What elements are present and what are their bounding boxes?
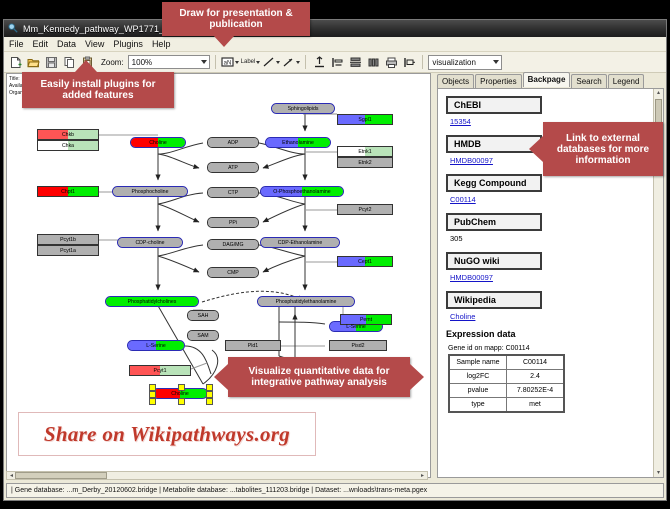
selection-handle[interactable] <box>149 398 156 405</box>
node-label: CTP <box>228 190 238 196</box>
open-folder-icon[interactable] <box>25 54 41 70</box>
order-icon[interactable] <box>401 54 417 70</box>
node-label: Phosphatidylcholines <box>128 299 177 305</box>
gene-node[interactable]: Chka <box>37 140 99 151</box>
metabolite-node[interactable]: CDP-Ethanolamine <box>260 237 340 248</box>
save-icon[interactable] <box>43 54 59 70</box>
gene-id-line: Gene id on mapp: C00114 <box>448 345 663 352</box>
toolbar-separator <box>305 55 306 69</box>
print-icon[interactable] <box>383 54 399 70</box>
gene-node[interactable]: Etnk2 <box>337 157 393 168</box>
label-tool-text: Label <box>241 59 256 65</box>
tab-objects[interactable]: Objects <box>437 74 474 88</box>
db-header-nugo: NuGO wiki <box>446 252 542 270</box>
db-value-pubchem: 305 <box>450 234 663 243</box>
toolbar-separator <box>422 55 423 69</box>
gene-node[interactable]: Cept1 <box>337 256 393 267</box>
db-link-kegg[interactable]: C00114 <box>450 195 663 204</box>
expression-key: Sample name <box>449 355 507 370</box>
node-label: Pemt <box>360 317 372 323</box>
metabolite-node[interactable]: Phosphatidylethanolamine <box>257 296 355 307</box>
align-left-icon[interactable] <box>329 54 345 70</box>
db-header-chebi: ChEBI <box>446 96 542 114</box>
scroll-down-icon[interactable]: ▾ <box>654 469 663 477</box>
callout-share: Share on Wikipathways.org <box>18 412 316 456</box>
callout-plugins: Easily install plugins for added feature… <box>22 72 174 108</box>
cofactor-node[interactable]: ATP <box>207 162 259 173</box>
stack-icon[interactable] <box>347 54 363 70</box>
node-label: Chka <box>62 143 74 149</box>
status-bar: | Gene database: ...m_Derby_20120602.bri… <box>4 481 666 500</box>
menu-edit[interactable]: Edit <box>33 39 49 49</box>
db-link-wikipedia[interactable]: Choline <box>450 312 663 321</box>
cofactor-node[interactable]: SAM <box>187 330 219 341</box>
node-label: SAM <box>197 333 208 339</box>
db-header-pubchem: PubChem <box>446 213 542 231</box>
expression-table: Sample nameC00114log2FC2.4pvalue7.80252E… <box>448 354 565 413</box>
expression-key: pvalue <box>449 384 507 398</box>
side-panel-tabs: Objects Properties Backpage Search Legen… <box>433 73 664 88</box>
cofactor-node[interactable]: SAH <box>187 310 219 321</box>
selection-handle[interactable] <box>178 384 185 391</box>
new-file-icon[interactable] <box>7 54 23 70</box>
line-tool[interactable] <box>262 56 280 68</box>
label-tool[interactable]: Label <box>241 59 261 65</box>
metabolite-node[interactable]: L-Serine <box>127 340 185 351</box>
db-header-hmdb: HMDB <box>446 135 542 153</box>
callout-draw: Draw for presentation & publication <box>162 2 310 36</box>
expression-value: C00114 <box>507 355 565 370</box>
scroll-left-icon[interactable]: ◂ <box>7 472 16 480</box>
status-text: | Gene database: ...m_Derby_20120602.bri… <box>6 483 664 498</box>
cofactor-node[interactable]: CMP <box>207 267 259 278</box>
node-label: Sphingolipids <box>288 106 319 112</box>
node-label: Etnk1 <box>358 149 371 155</box>
expression-value: 7.80252E-4 <box>507 384 565 398</box>
tab-search[interactable]: Search <box>571 74 606 88</box>
gene-node[interactable]: Pcyt2 <box>337 204 393 215</box>
node-label: DAG/MG <box>222 242 243 248</box>
callout-links: Link to external databases for more info… <box>543 122 663 176</box>
node-label: PPi <box>229 220 237 226</box>
node-label: Ethanolamine <box>282 140 314 146</box>
expression-row: pvalue7.80252E-4 <box>449 384 564 398</box>
expression-data-title: Expression data <box>446 329 663 339</box>
menu-data[interactable]: Data <box>57 39 76 49</box>
selection-handle[interactable] <box>206 398 213 405</box>
node-label: CMP <box>227 270 239 276</box>
gene-node[interactable]: Pisd2 <box>329 340 387 351</box>
tab-backpage[interactable]: Backpage <box>523 72 571 87</box>
selection-handle[interactable] <box>178 398 185 405</box>
gene-node[interactable]: Pcyt1a <box>37 245 99 256</box>
callout-visualize-arrow-icon <box>214 364 228 390</box>
db-link-nugo[interactable]: HMDB00097 <box>450 273 663 282</box>
canvas-scroll-thumb[interactable] <box>15 472 107 479</box>
selection-handle[interactable] <box>206 391 213 398</box>
metabolite-node[interactable]: O-Phosphoethanolamine <box>260 186 344 197</box>
title-bar: Mm_Kennedy_pathway_WP1771_45176.gpml <box>4 20 666 37</box>
callout-share-text: Share on Wikipathways.org <box>44 422 290 447</box>
node-label: SAH <box>198 313 209 319</box>
expression-key: log2FC <box>449 370 507 384</box>
menu-bar: File Edit Data View Plugins Help <box>4 37 666 52</box>
visualization-combobox[interactable]: visualization <box>428 55 502 70</box>
node-label: Phosphatidylethanolamine <box>276 299 337 305</box>
node-label: CDP-Ethanolamine <box>278 240 322 246</box>
callout-draw-arrow-icon <box>213 35 235 47</box>
chevron-down-icon <box>296 61 300 64</box>
distribute-icon[interactable] <box>365 54 381 70</box>
node-label: Pld1 <box>248 343 258 349</box>
node-label: Sgpl1 <box>358 117 371 123</box>
node-label: Chkb <box>62 132 74 138</box>
node-label: O-Phosphoethanolamine <box>273 189 330 195</box>
callout-visualize-arrow-right-icon <box>410 364 424 390</box>
cofactor-node[interactable]: ADP <box>207 137 259 148</box>
node-label: ATP <box>228 165 238 171</box>
callout-visualize: Visualize quantitative data for integrat… <box>228 357 410 397</box>
metabolite-node[interactable]: Phosphatidylcholines <box>105 296 199 307</box>
zoom-value: 100% <box>132 58 152 67</box>
toolbar-separator <box>215 55 216 69</box>
menu-help[interactable]: Help <box>152 39 171 49</box>
menu-plugins[interactable]: Plugins <box>113 39 143 49</box>
expression-row: Sample nameC00114 <box>449 355 564 370</box>
datanode-tool[interactable]: aN <box>221 56 239 68</box>
visualization-value: visualization <box>432 58 476 67</box>
gene-node[interactable]: Etnk1 <box>337 146 393 157</box>
chevron-down-icon <box>201 60 207 64</box>
gene-node[interactable]: Pcyt1b <box>37 234 99 245</box>
svg-text:aN: aN <box>223 60 231 66</box>
expression-value: 2.4 <box>507 370 565 384</box>
arrow-tool[interactable] <box>282 56 300 68</box>
node-label: Cept1 <box>358 259 372 265</box>
gene-node[interactable]: Chkb <box>37 129 99 140</box>
db-header-kegg: Kegg Compound <box>446 174 542 192</box>
tab-properties[interactable]: Properties <box>475 74 521 88</box>
node-label: Phosphocholine <box>132 189 169 195</box>
callout-plugins-arrow-icon <box>75 60 97 72</box>
chevron-down-icon <box>256 61 260 64</box>
expression-row: typemet <box>449 398 564 413</box>
selection-handle[interactable] <box>206 384 213 391</box>
menu-view[interactable]: View <box>85 39 104 49</box>
node-label: Pcyt1 <box>154 368 167 374</box>
menu-file[interactable]: File <box>9 39 24 49</box>
callout-links-arrow-icon <box>529 136 543 162</box>
gene-node[interactable]: Chpt1 <box>37 186 99 197</box>
toolbar: Zoom: 100% aN Label <box>4 52 666 73</box>
node-label: ADP <box>228 140 239 146</box>
scroll-right-icon[interactable]: ▸ <box>418 472 427 480</box>
selection-handle[interactable] <box>149 391 156 398</box>
node-label: Pcyt1a <box>60 248 76 254</box>
chevron-down-icon <box>493 60 499 64</box>
node-label: L-Serine <box>146 343 166 349</box>
cofactor-node[interactable]: DAG/MG <box>207 239 259 250</box>
cofactor-node[interactable]: PPi <box>207 217 259 228</box>
zoom-combobox[interactable]: 100% <box>128 55 210 69</box>
gene-node[interactable]: Pcyt1 <box>129 365 191 376</box>
selection-handle[interactable] <box>149 384 156 391</box>
node-label: Choline <box>149 140 167 146</box>
expression-value: met <box>507 398 565 413</box>
metabolite-node[interactable]: Ethanolamine <box>265 137 331 148</box>
metabolite-node[interactable]: CDP-choline <box>117 237 183 248</box>
node-label: Etnk2 <box>358 160 371 166</box>
node-label: Pisd2 <box>352 343 365 349</box>
db-header-wikipedia: Wikipedia <box>446 291 542 309</box>
zoom-label: Zoom: <box>101 58 124 67</box>
metabolite-node[interactable]: Phosphocholine <box>112 186 188 197</box>
metabolite-node[interactable]: Choline <box>130 137 186 148</box>
gene-node[interactable]: Pld1 <box>225 340 281 351</box>
chevron-down-icon <box>235 61 239 64</box>
node-label: CDP-choline <box>135 240 164 246</box>
metabolite-node[interactable]: Sphingolipids <box>271 103 335 114</box>
app-icon <box>8 23 19 34</box>
tab-legend[interactable]: Legend <box>608 74 645 88</box>
node-label: Pcyt2 <box>359 207 372 213</box>
scroll-up-icon[interactable]: ▴ <box>654 89 663 97</box>
node-label: L-Serine <box>346 324 366 330</box>
cofactor-node[interactable]: CTP <box>207 187 259 198</box>
canvas-horizontal-scrollbar[interactable]: ◂ ▸ <box>6 471 428 480</box>
screenshot-root: Mm_Kennedy_pathway_WP1771_45176.gpml Fil… <box>0 0 670 509</box>
expression-key: type <box>449 398 507 413</box>
expression-row: log2FC2.4 <box>449 370 564 384</box>
node-label: Choline <box>171 391 189 397</box>
gene-node[interactable]: Sgpl1 <box>337 114 393 125</box>
node-label: Chpt1 <box>61 189 75 195</box>
align-top-icon[interactable] <box>311 54 327 70</box>
node-label: Pcyt1b <box>60 237 76 243</box>
chevron-down-icon <box>276 61 280 64</box>
